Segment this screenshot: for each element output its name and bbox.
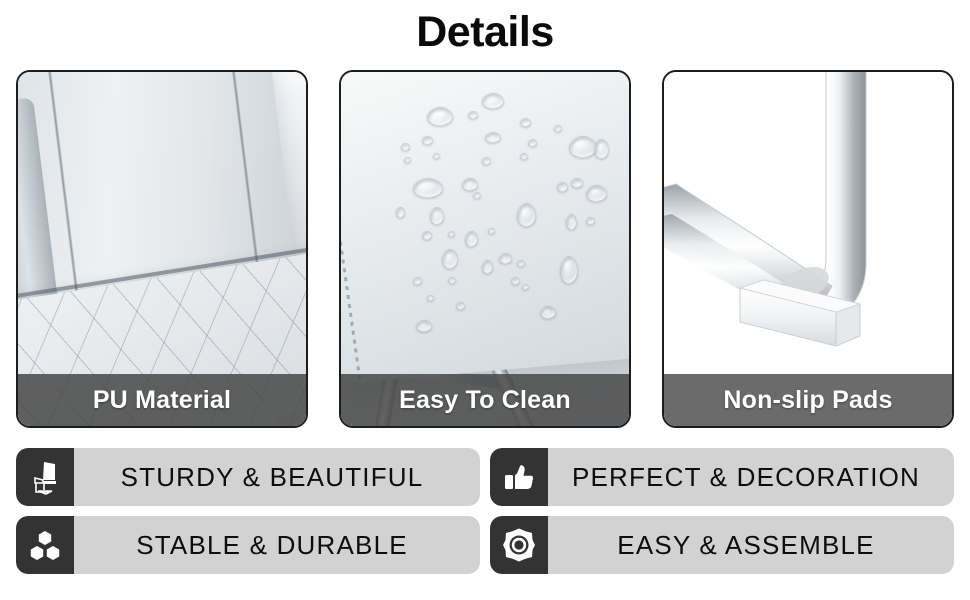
thumbs-up-icon: [490, 448, 548, 506]
feature-item-easy-assemble[interactable]: EASY & ASSEMBLE: [490, 516, 954, 574]
feature-item-sturdy-beautiful[interactable]: STURDY & BEAUTIFUL: [16, 448, 480, 506]
panel-caption: PU Material: [18, 374, 306, 426]
feature-label: STABLE & DURABLE: [74, 530, 480, 561]
non-slip-pad-photo: [664, 72, 952, 426]
panel-caption: Non-slip Pads: [664, 374, 952, 426]
panel-caption: Easy To Clean: [341, 374, 629, 426]
feature-label: PERFECT & DECORATION: [548, 462, 954, 493]
chair-icon: [16, 448, 74, 506]
feature-item-perfect-decoration[interactable]: PERFECT & DECORATION: [490, 448, 954, 506]
detail-panel-pu-material[interactable]: PU Material: [16, 70, 308, 428]
page-title: Details: [0, 6, 970, 58]
feature-label: STURDY & BEAUTIFUL: [74, 462, 480, 493]
water-droplets-photo: [341, 72, 629, 426]
feature-item-stable-durable[interactable]: STABLE & DURABLE: [16, 516, 480, 574]
detail-panels: PU Material: [16, 70, 954, 428]
pu-leather-photo: [18, 72, 306, 426]
feature-label: EASY & ASSEMBLE: [548, 530, 954, 561]
detail-panel-easy-to-clean[interactable]: Easy To Clean: [339, 70, 631, 428]
detail-panel-non-slip-pads[interactable]: Non-slip Pads: [662, 70, 954, 428]
feature-list: STURDY & BEAUTIFUL PERFECT & DECORATION …: [16, 448, 954, 574]
gear-icon: [490, 516, 548, 574]
hexagons-icon: [16, 516, 74, 574]
